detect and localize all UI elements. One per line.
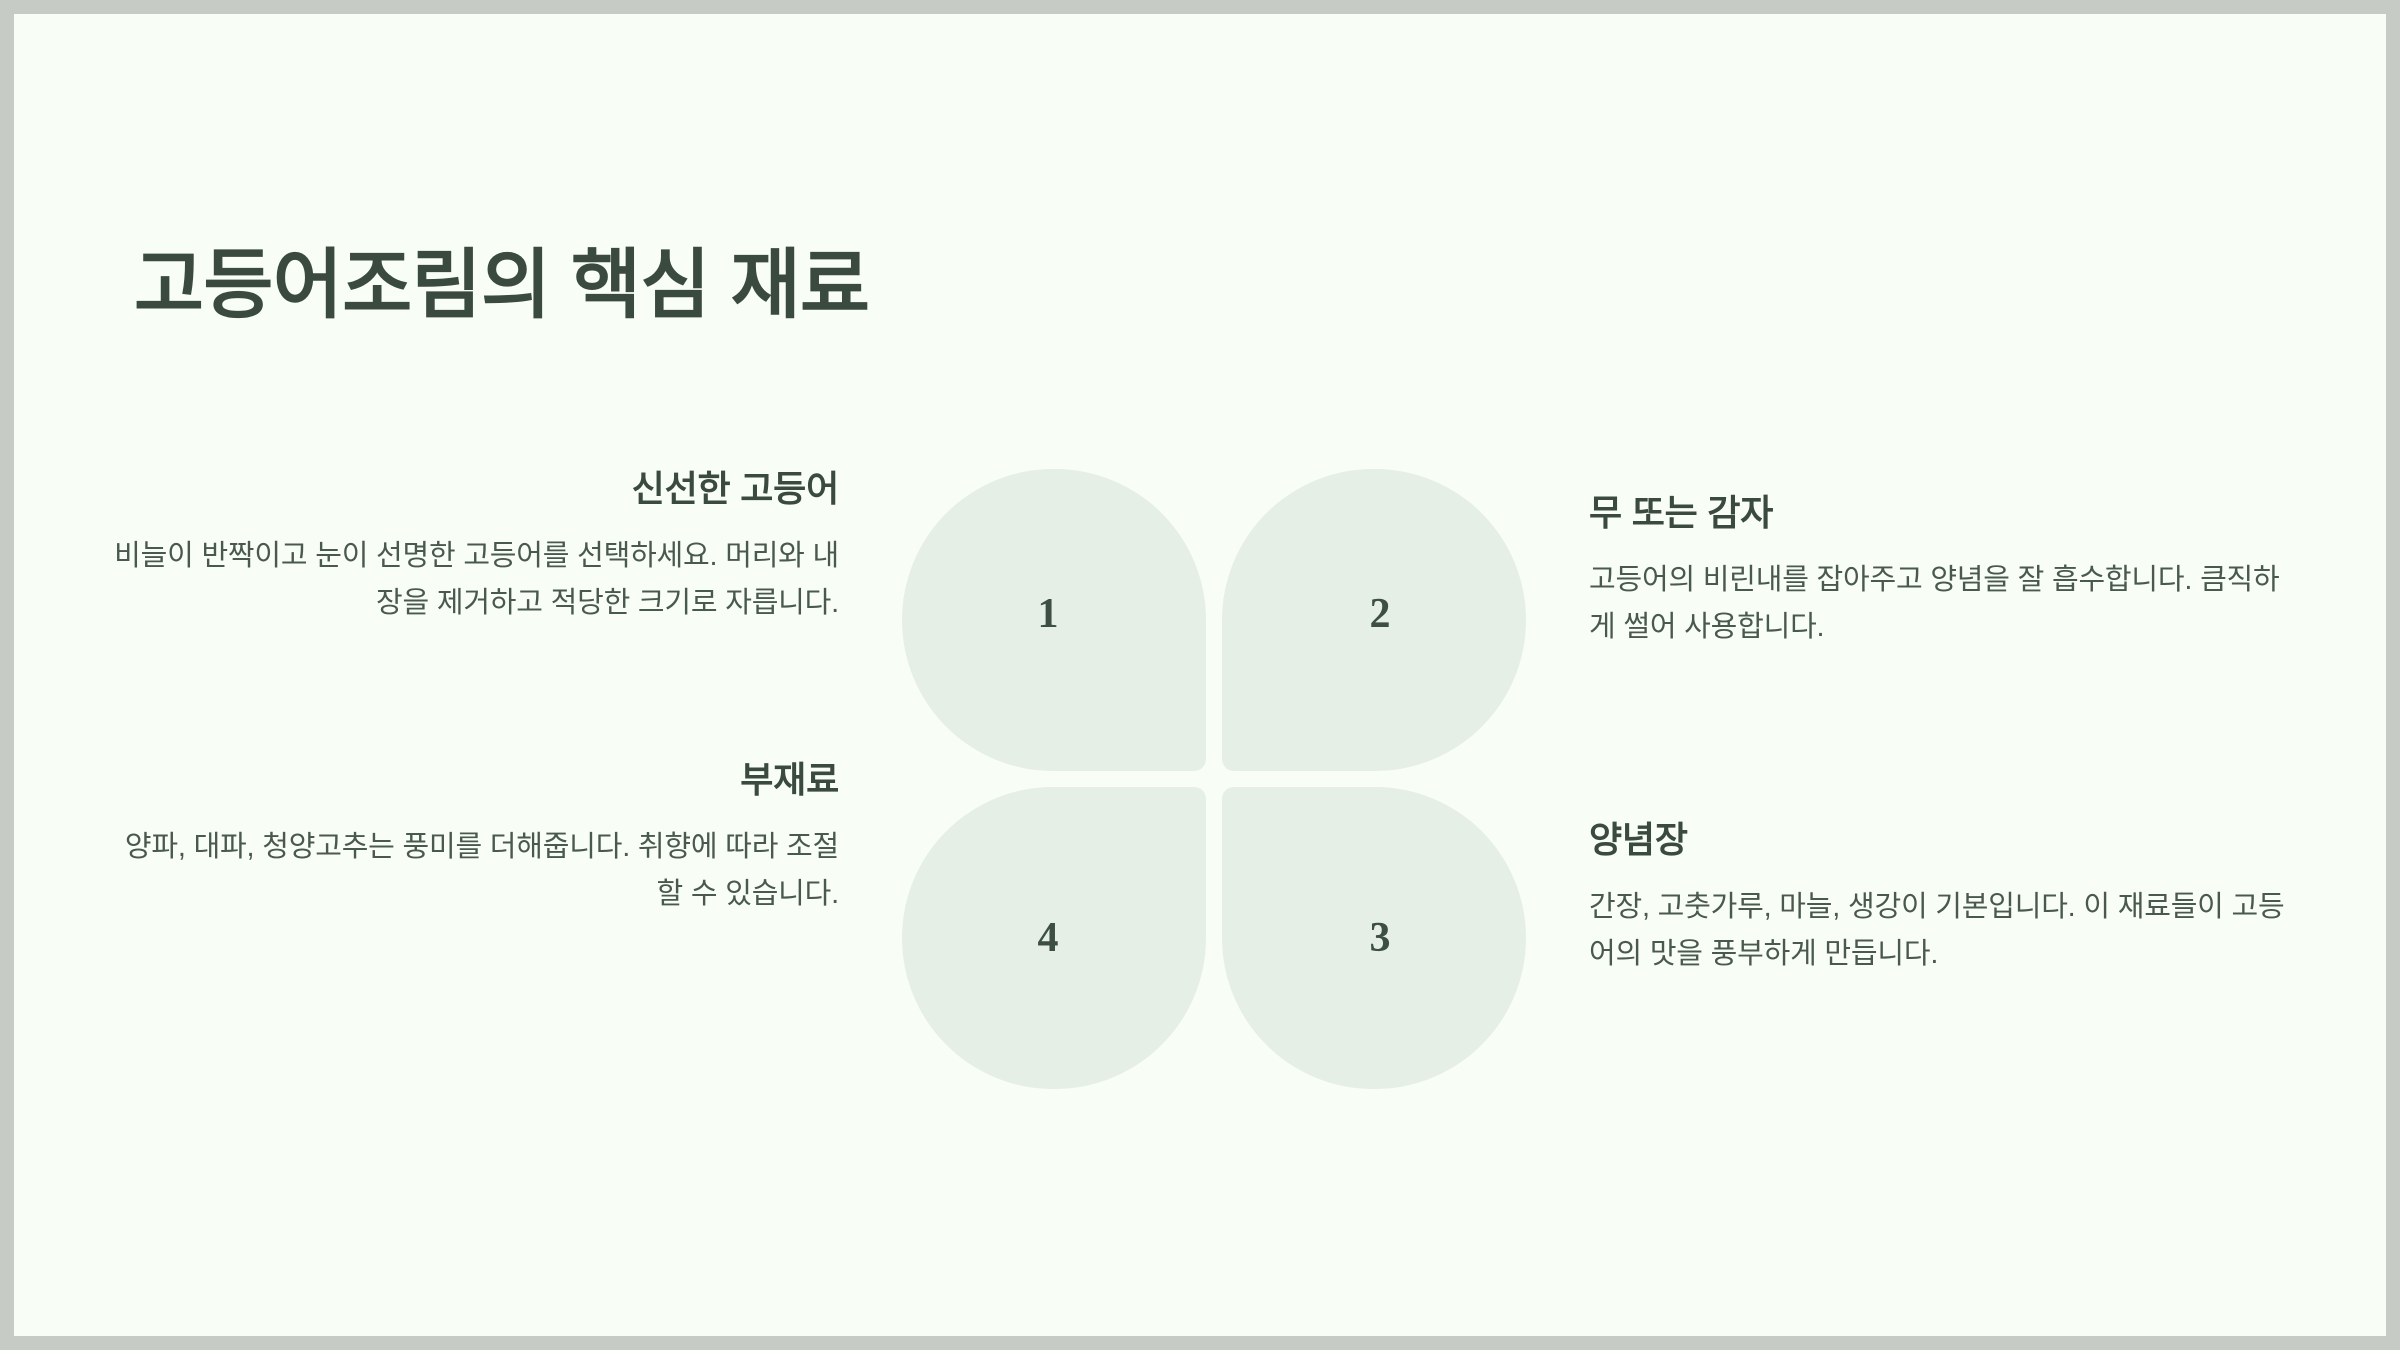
clover-diagram: 1 2 3 4 — [902, 469, 1526, 1089]
ingredient-body-4: 양파, 대파, 청양고추는 풍미를 더해줍니다. 취향에 따라 조절할 수 있습… — [114, 824, 839, 918]
ingredient-title-3: 양념장 — [1589, 817, 2294, 864]
ingredient-title-2: 무 또는 감자 — [1589, 490, 2294, 537]
petal-3[interactable]: 3 — [1222, 787, 1526, 1089]
ingredient-body-3: 간장, 고춧가루, 마늘, 생강이 기본입니다. 이 재료들이 고등어의 맛을 … — [1589, 884, 2294, 978]
petal-1[interactable]: 1 — [902, 469, 1206, 771]
petal-number-2: 2 — [1370, 593, 1391, 635]
petal-number-3: 3 — [1370, 917, 1391, 959]
ingredient-block-4: 부재료 양파, 대파, 청양고추는 풍미를 더해줍니다. 취향에 따라 조절할 … — [114, 757, 839, 918]
ingredient-title-4: 부재료 — [114, 757, 839, 804]
ingredient-body-2: 고등어의 비린내를 잡아주고 양념을 잘 흡수합니다. 큼직하게 썰어 사용합니… — [1589, 557, 2294, 651]
ingredient-block-2: 무 또는 감자 고등어의 비린내를 잡아주고 양념을 잘 흡수합니다. 큼직하게… — [1589, 490, 2294, 651]
petal-number-4: 4 — [1038, 917, 1059, 959]
slide-frame: 고등어조림의 핵심 재료 신선한 고등어 비늘이 반짝이고 눈이 선명한 고등어… — [0, 0, 2400, 1350]
page-title: 고등어조림의 핵심 재료 — [134, 243, 869, 328]
petal-4[interactable]: 4 — [902, 787, 1206, 1089]
ingredient-body-1: 비늘이 반짝이고 눈이 선명한 고등어를 선택하세요. 머리와 내장을 제거하고… — [114, 533, 839, 627]
ingredient-block-1: 신선한 고등어 비늘이 반짝이고 눈이 선명한 고등어를 선택하세요. 머리와 … — [114, 466, 839, 627]
right-column: 무 또는 감자 고등어의 비린내를 잡아주고 양념을 잘 흡수합니다. 큼직하게… — [1589, 444, 2294, 977]
ingredient-title-1: 신선한 고등어 — [114, 466, 839, 513]
petal-number-1: 1 — [1038, 593, 1059, 635]
left-column: 신선한 고등어 비늘이 반짝이고 눈이 선명한 고등어를 선택하세요. 머리와 … — [114, 444, 839, 917]
ingredient-block-3: 양념장 간장, 고춧가루, 마늘, 생강이 기본입니다. 이 재료들이 고등어의… — [1589, 817, 2294, 978]
slide-canvas: 고등어조림의 핵심 재료 신선한 고등어 비늘이 반짝이고 눈이 선명한 고등어… — [14, 14, 2386, 1336]
petal-2[interactable]: 2 — [1222, 469, 1526, 771]
